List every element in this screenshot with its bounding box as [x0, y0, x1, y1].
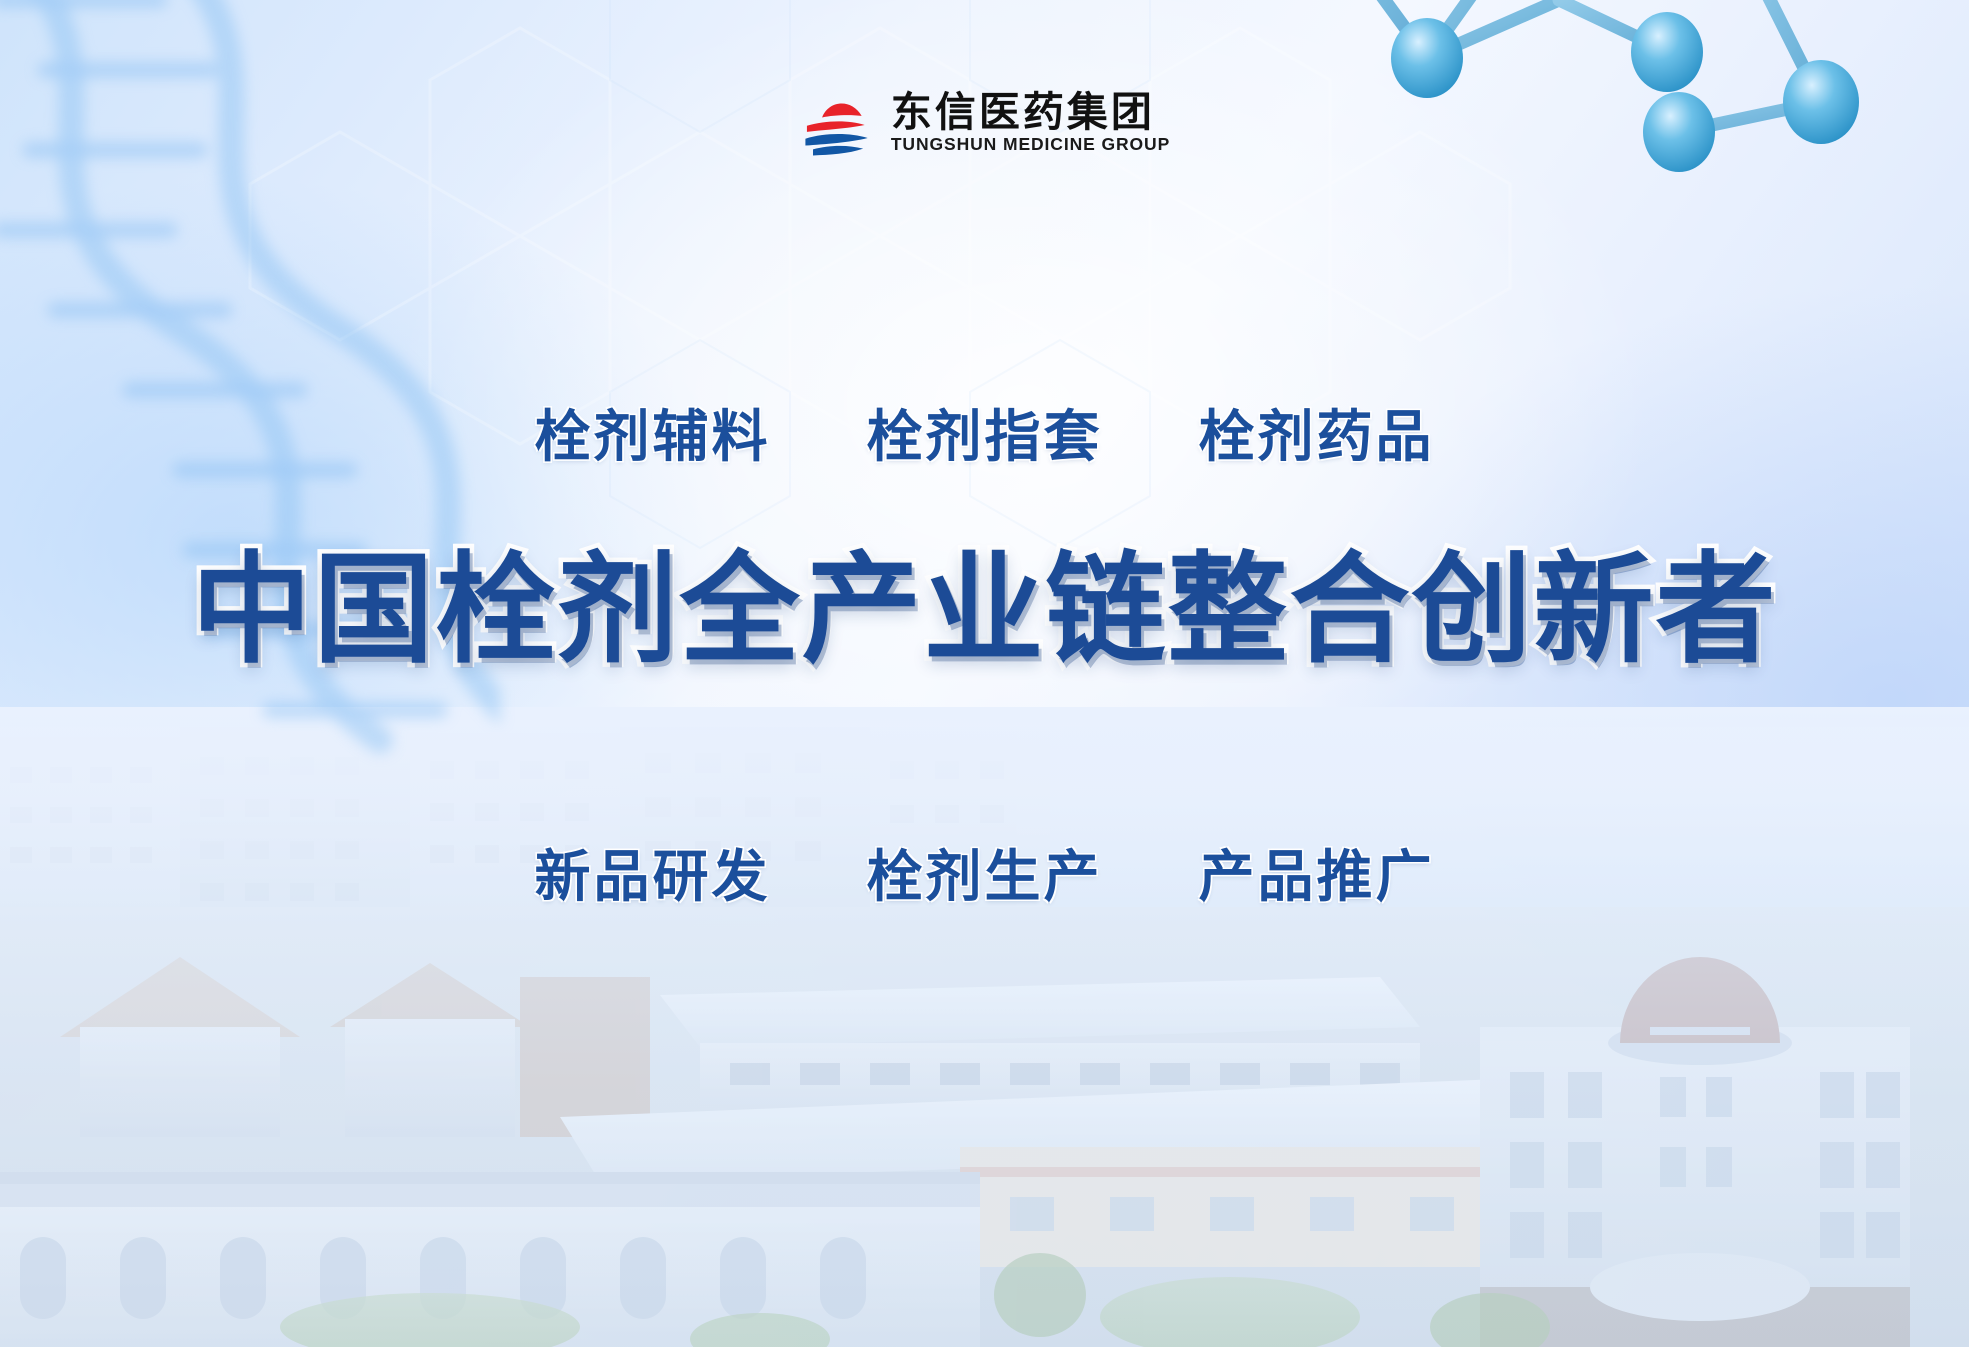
keyword-new-product-rd: 新品研发: [535, 832, 771, 913]
brand-logo-text: 东信医药集团 TUNGSHUN MEDICINE GROUP: [891, 91, 1170, 154]
keyword-suppository-production: 栓剂生产: [867, 832, 1103, 913]
keyword-product-promotion: 产品推广: [1199, 832, 1435, 913]
brand-name-en: TUNGSHUN MEDICINE GROUP: [891, 136, 1170, 154]
brand-logo: 东信医药集团 TUNGSHUN MEDICINE GROUP: [799, 84, 1170, 160]
tungshun-sunrise-logo-mark: [799, 84, 875, 160]
keyword-suppository-excipients: 栓剂辅料: [535, 392, 771, 473]
keyword-suppository-finger-cots: 栓剂指套: [867, 392, 1103, 473]
bottom-keyword-row: 新品研发 栓剂生产 产品推广: [0, 832, 1969, 913]
keyword-suppository-drugs: 栓剂药品: [1199, 392, 1435, 473]
promotional-banner: 东信医药集团 TUNGSHUN MEDICINE GROUP 栓剂辅料 栓剂指套…: [0, 0, 1969, 1347]
headline-text: 中国栓剂全产业链整合创新者: [192, 540, 1778, 682]
brand-name-cn: 东信医药集团: [891, 91, 1170, 134]
page-title: 中国栓剂全产业链整合创新者: [0, 540, 1969, 682]
top-keyword-row: 栓剂辅料 栓剂指套 栓剂药品: [0, 392, 1969, 473]
